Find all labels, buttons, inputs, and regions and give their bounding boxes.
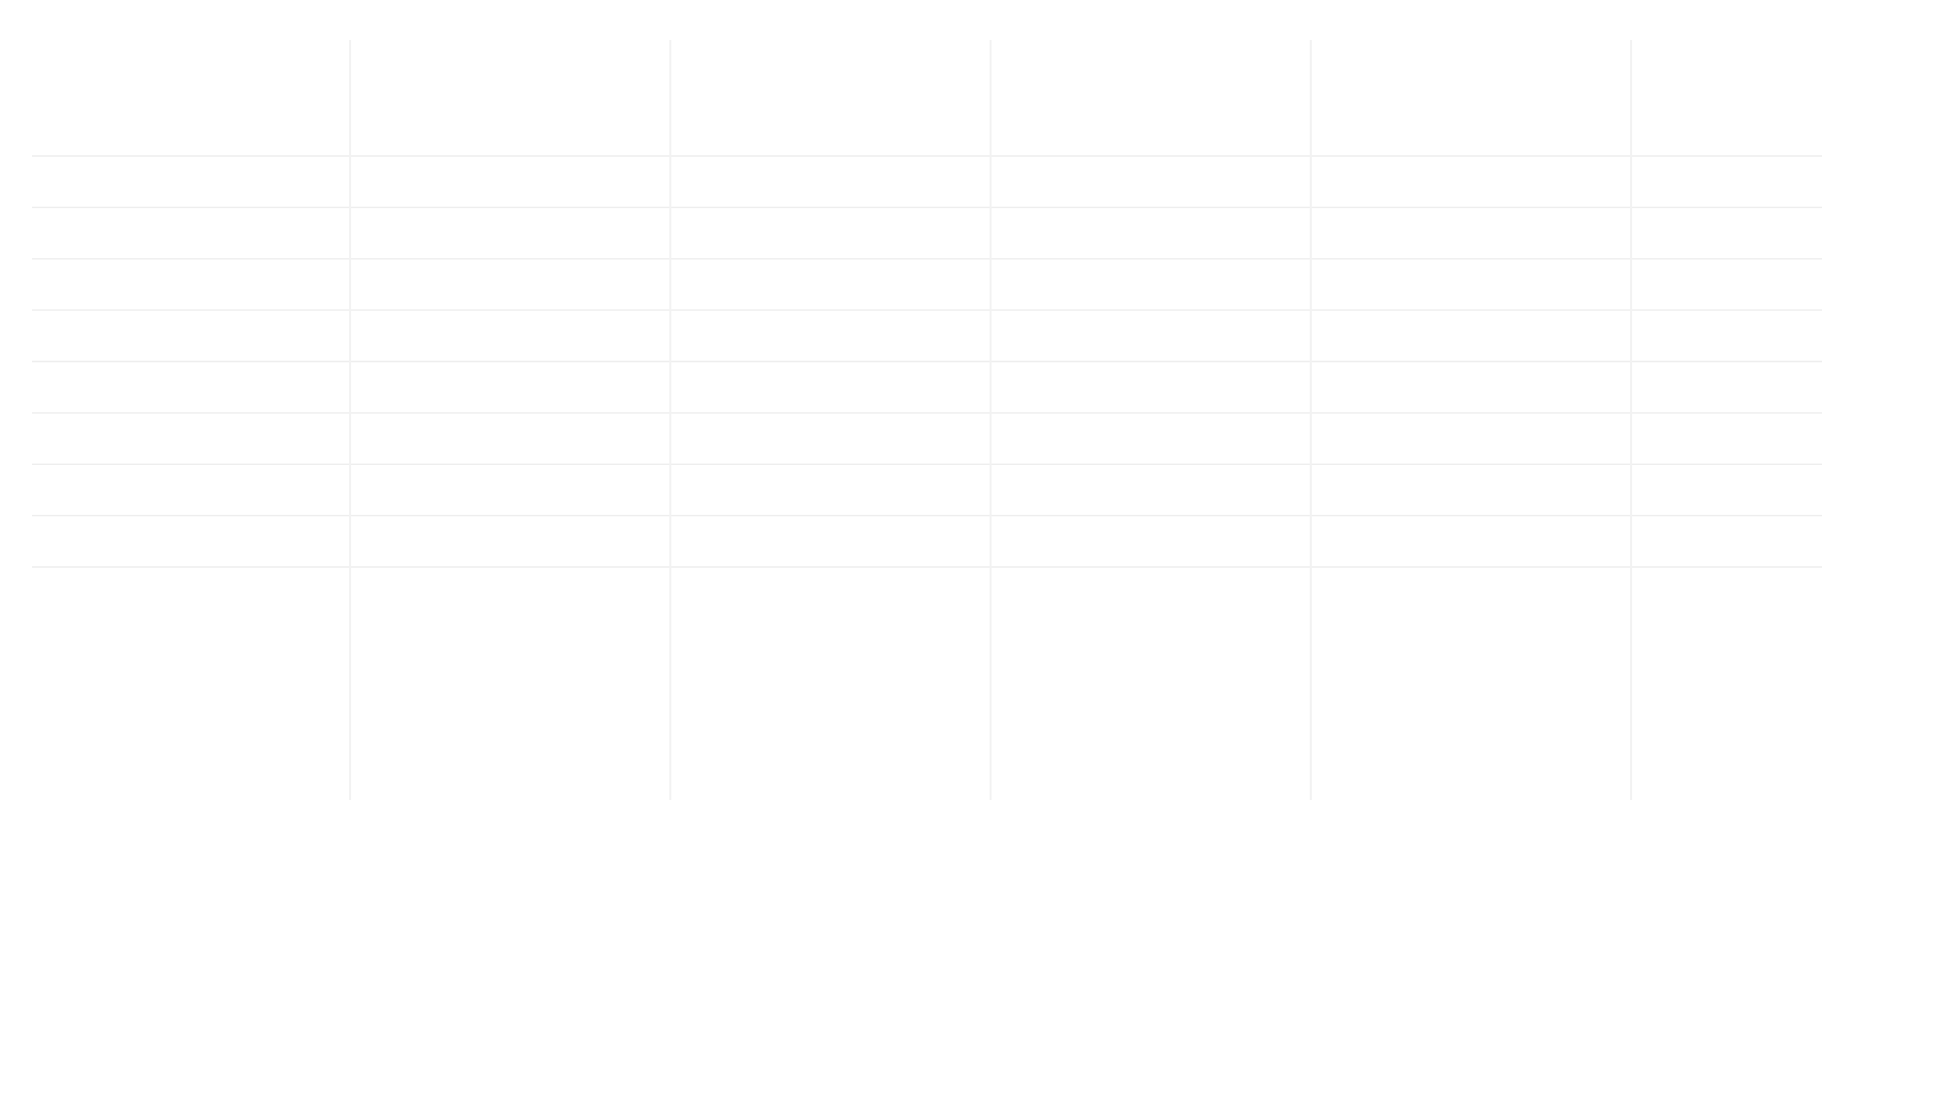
momentum-chart xyxy=(0,0,1960,1102)
plot-area xyxy=(32,40,1822,800)
chart-canvas xyxy=(0,0,1960,1102)
gridlines xyxy=(32,156,1822,567)
vertical-gridlines xyxy=(350,40,1631,800)
